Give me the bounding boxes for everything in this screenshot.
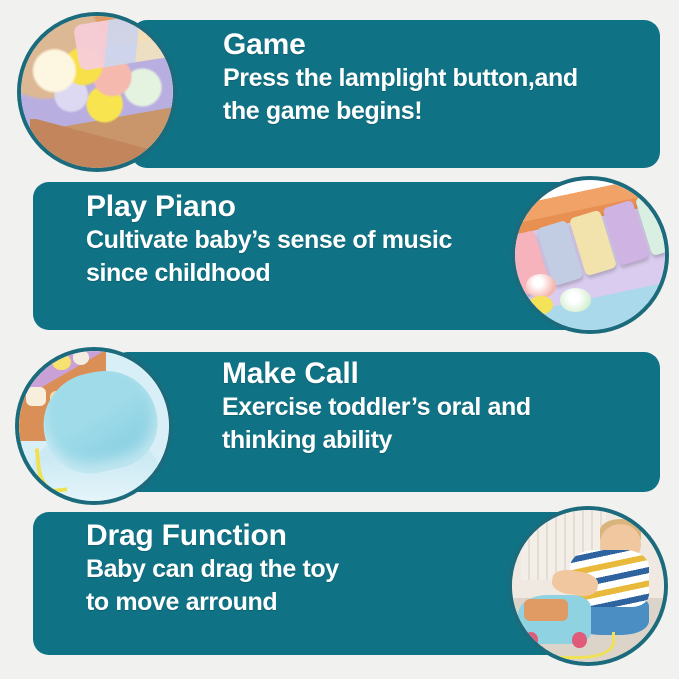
feature-title-make-call: Make Call: [222, 357, 622, 391]
lamp-button: [529, 296, 552, 314]
tray-button: [26, 387, 46, 406]
lamp-button: [560, 288, 591, 311]
feature-description-line: Press the lamplight button,and: [223, 62, 643, 96]
feature-text-play-piano: Play Piano Cultivate baby’s sense of mus…: [86, 190, 526, 291]
feature-description-drag-function: Baby can drag the toy to move arround: [86, 553, 506, 620]
feature-description-line: the game begins!: [223, 95, 643, 129]
toy-telephone-photo: [19, 351, 169, 501]
feature-description-line: Baby can drag the toy: [86, 553, 506, 587]
feature-description-line: Exercise toddler’s oral and: [222, 391, 622, 425]
piano-keys-photo: [515, 180, 665, 330]
toy-wheel: [524, 632, 539, 648]
toddler-playing-photo: [512, 510, 664, 662]
feature-title-play-piano: Play Piano: [86, 190, 526, 224]
feature-text-make-call: Make Call Exercise toddler’s oral and th…: [222, 357, 622, 458]
toy-keypad: [524, 599, 568, 621]
feature-description-line: to move arround: [86, 586, 506, 620]
game-buttons-photo: [21, 16, 173, 168]
feature-description-line: Cultivate baby’s sense of music: [86, 224, 526, 258]
feature-image-game: [17, 12, 177, 172]
feature-description-game: Press the lamplight button,and the game …: [223, 62, 643, 129]
feature-text-game: Game Press the lamplight button,and the …: [223, 28, 643, 129]
feature-title-drag-function: Drag Function: [86, 519, 506, 553]
feature-description-make-call: Exercise toddler’s oral and thinking abi…: [222, 391, 622, 458]
feature-image-play-piano: [511, 176, 669, 334]
tray-button: [52, 354, 71, 371]
feature-description-line: thinking ability: [222, 424, 622, 458]
feature-description-play-piano: Cultivate baby’s sense of music since ch…: [86, 224, 526, 291]
lamp-button: [526, 274, 557, 297]
feature-image-make-call: [15, 347, 173, 505]
tray-button: [73, 351, 90, 365]
toy-pull-string: [558, 632, 616, 659]
feature-title-game: Game: [223, 28, 643, 62]
feature-image-drag-function: [508, 506, 668, 666]
piano-lamp-buttons: [524, 270, 614, 321]
feature-poster: Game Press the lamplight button,and the …: [0, 0, 679, 679]
feature-text-drag-function: Drag Function Baby can drag the toy to m…: [86, 519, 506, 620]
feature-description-line: since childhood: [86, 257, 526, 291]
